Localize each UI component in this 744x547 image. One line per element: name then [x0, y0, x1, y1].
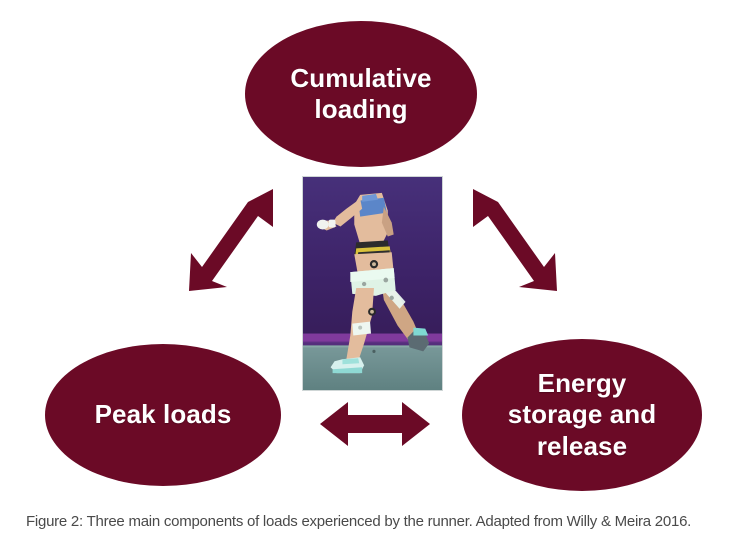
- runner-photo: [302, 176, 443, 391]
- runner-photo-illustration: [303, 177, 442, 390]
- node-cumulative-loading-label: Cumulative loading: [290, 63, 431, 125]
- node-cumulative-loading[interactable]: Cumulative loading: [245, 21, 477, 167]
- arrow-peak-to-cumulative-icon: [178, 183, 282, 295]
- node-energy-storage-and-release[interactable]: Energy storage and release: [462, 339, 702, 491]
- figure-container: Cumulative loading Peak loads Energy sto…: [0, 0, 744, 547]
- node-peak-loads-label: Peak loads: [95, 399, 232, 430]
- arrow-peak-to-energy-icon: [318, 396, 432, 452]
- node-peak-loads[interactable]: Peak loads: [45, 344, 281, 486]
- node-energy-storage-and-release-label: Energy storage and release: [508, 368, 656, 462]
- arrow-cumulative-to-energy-icon: [464, 183, 568, 295]
- figure-caption: Figure 2: Three main components of loads…: [26, 511, 726, 532]
